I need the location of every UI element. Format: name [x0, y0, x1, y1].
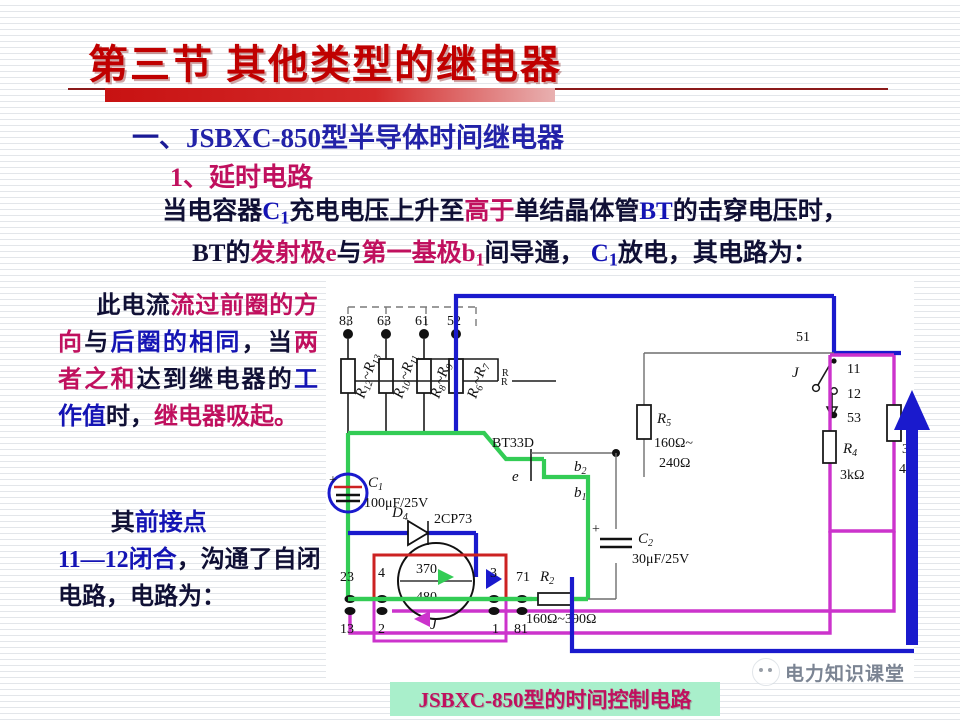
intro-paragraph: 当电容器C1充电电压上升至高于单结晶体管BT的击穿电压时， BT的发射极e与第一…: [60, 194, 950, 277]
figure-caption: JSBXC-850型的时间控制电路: [390, 682, 720, 716]
slide-root: 第三节 其他类型的继电器 一、JSBXC-850型半导体时间继电器 1、延时电路…: [0, 0, 960, 720]
svg-text:83: 83: [339, 314, 353, 329]
svg-text:61: 61: [415, 314, 429, 329]
svg-text:23: 23: [340, 570, 354, 585]
svg-text:BT33D: BT33D: [492, 436, 534, 451]
heading-rest: 型半导体时间继电器: [321, 123, 564, 153]
svg-text:53: 53: [847, 411, 861, 426]
svg-text:+: +: [329, 473, 337, 488]
watermark-text: 电力知识课堂: [785, 659, 905, 686]
svg-text:3kΩ: 3kΩ: [840, 468, 864, 483]
heading-prefix: 一、: [132, 123, 186, 153]
title-accent-bar: [105, 88, 555, 102]
svg-text:R: R: [501, 377, 508, 388]
heading-subsection-1: 1、延时电路: [170, 157, 313, 194]
heading-model: JSBXC-850: [186, 123, 321, 153]
circuit-diagram-svg: .ink{stroke:#1b1b1b;stroke-width:1.6;fil…: [326, 281, 914, 679]
left-paragraph-2: 其前接点11—12闭合，沟通了自闭电路，电路为：: [58, 505, 323, 616]
svg-text:e: e: [512, 469, 519, 485]
svg-text:240Ω: 240Ω: [659, 456, 690, 471]
blue-up-arrow-icon: [890, 390, 934, 650]
intro-line-2: BT的发射极e与第一基极b1间导通， C1放电，其电路为：: [60, 236, 950, 278]
svg-text:13: 13: [340, 622, 354, 637]
page-title: 第三节 其他类型的继电器: [88, 32, 728, 90]
svg-text:12: 12: [847, 387, 861, 402]
svg-text:+: +: [592, 522, 600, 537]
svg-text:63: 63: [377, 314, 391, 329]
intro-line-1: 当电容器C1充电电压上升至高于单结晶体管BT的击穿电压时，: [162, 198, 848, 225]
left-paragraph-1: 此电流流过前圈的方向与后圈的相同，当两者之和达到继电器的工作值时，继电器吸起。: [58, 288, 318, 436]
circuit-diagram-figure: .ink{stroke:#1b1b1b;stroke-width:1.6;fil…: [326, 281, 914, 679]
svg-text:30μF/25V: 30μF/25V: [632, 552, 689, 567]
svg-text:2: 2: [378, 622, 385, 637]
svg-text:370: 370: [416, 562, 437, 577]
left-paragraph-2-runs: 其前接点11—12闭合，沟通了自闭电路，电路为：: [58, 505, 323, 616]
watermark-logo-icon: [752, 658, 780, 686]
svg-text:2CP73: 2CP73: [434, 512, 472, 527]
svg-text:1: 1: [492, 622, 499, 637]
heading-section-1: 一、JSBXC-850型半导体时间继电器: [132, 116, 564, 155]
watermark: 电力知识课堂: [752, 658, 905, 686]
svg-text:11: 11: [847, 362, 860, 377]
svg-text:4: 4: [378, 566, 385, 581]
svg-text:51: 51: [796, 330, 810, 345]
svg-text:160Ω~: 160Ω~: [654, 436, 693, 451]
left-paragraph-1-runs: 此电流流过前圈的方向与后圈的相同，当两者之和达到继电器的工作值时，继电器吸起。: [58, 288, 318, 436]
svg-text:160Ω~390Ω: 160Ω~390Ω: [526, 612, 596, 627]
